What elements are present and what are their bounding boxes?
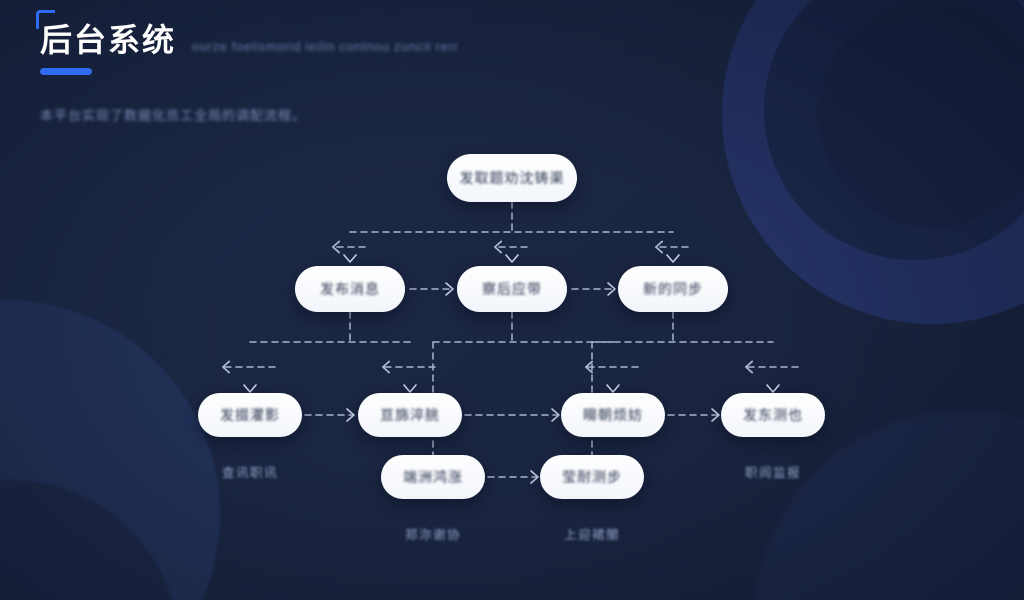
flow-node-label: 察后应带 xyxy=(482,279,542,299)
flow-node-level3-1[interactable]: 发掇灈影 xyxy=(198,393,302,437)
backend-system-flow-screen: 后台系统 ourze foelismorid ieilin contnou zu… xyxy=(0,0,1024,600)
flow-caption-level3-4: 职闾监报 xyxy=(745,462,801,481)
flow-node-label: 发布消息 xyxy=(320,279,380,299)
flow-node-level2-3[interactable]: 新的同步 xyxy=(618,266,728,312)
flow-node-level3-2[interactable]: 亘旆淬朓 xyxy=(358,393,462,437)
flow-node-level2-2[interactable]: 察后应带 xyxy=(457,266,567,312)
flow-node-label: 莹耐测步 xyxy=(562,467,622,487)
flow-node-label: 新的同步 xyxy=(643,279,703,299)
flow-node-level4-1[interactable]: 端洲鸿涨 xyxy=(381,455,485,499)
flow-node-label: 发东测也 xyxy=(743,405,803,425)
flow-node-label: 发取题劝沈铸渠 xyxy=(460,168,565,188)
flow-caption-level3-1: 查讯职讯 xyxy=(222,462,278,481)
flow-node-level2-1[interactable]: 发布消息 xyxy=(295,266,405,312)
flow-node-label: 发掇灈影 xyxy=(220,405,280,425)
flow-node-label: 端洲鸿涨 xyxy=(403,467,463,487)
flow-node-level3-4[interactable]: 发东测也 xyxy=(721,393,825,437)
flow-node-level3-3[interactable]: 矈朝烦妨 xyxy=(561,393,665,437)
flow-node-label: 亘旆淬朓 xyxy=(380,405,440,425)
flow-node-label: 矈朝烦妨 xyxy=(583,405,643,425)
flow-node-level4-2[interactable]: 莹耐测步 xyxy=(540,455,644,499)
flowchart: 发取题劝沈铸渠 发布消息 察后应带 新的同步 发掇灈影 亘旆淬朓 矈朝烦妨 发东… xyxy=(0,0,1024,600)
flow-caption-level4-2: 上迎裙闇 xyxy=(564,524,620,543)
flow-caption-level4-1: 郑沵谢协 xyxy=(405,524,461,543)
flow-node-root[interactable]: 发取题劝沈铸渠 xyxy=(447,154,577,202)
